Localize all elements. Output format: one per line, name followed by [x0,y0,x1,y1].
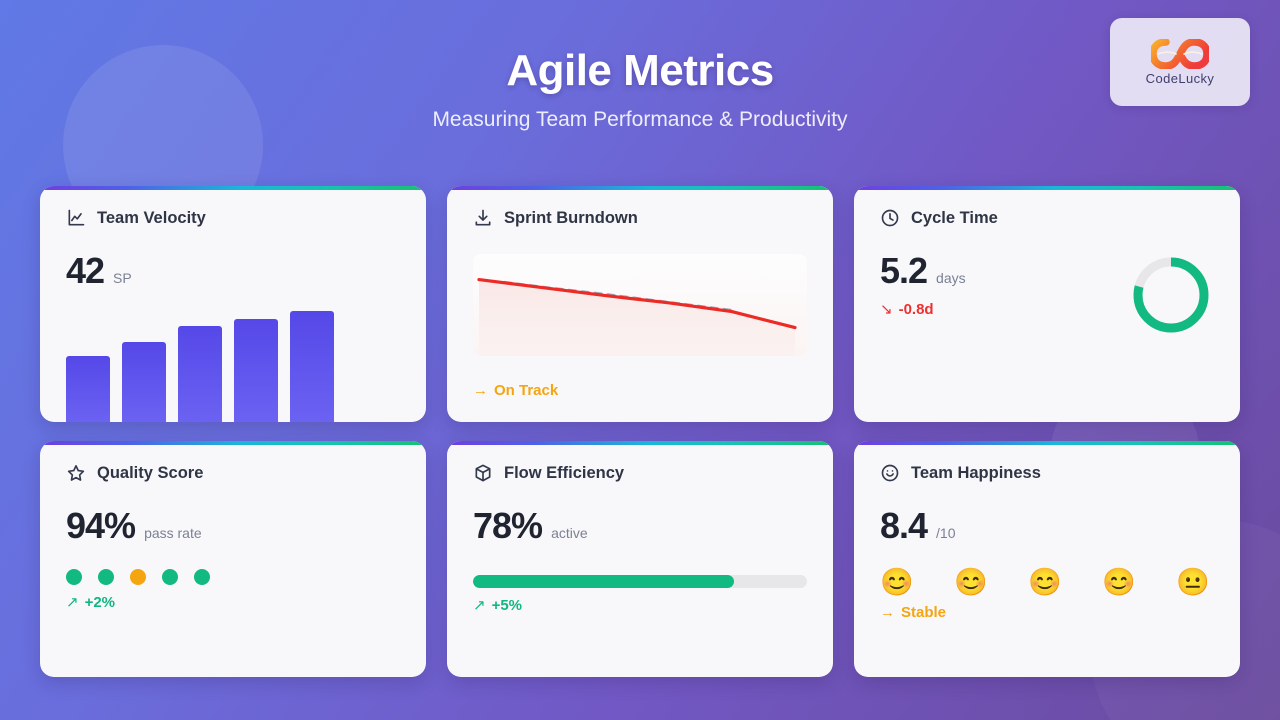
trend-indicator: ↗ +5% [473,596,807,614]
page-subtitle: Measuring Team Performance & Productivit… [0,108,1280,132]
metric-unit: pass rate [144,525,202,541]
star-icon [66,463,86,483]
happiness-status: → Stable [880,604,1214,621]
trend-arrow-icon: ↗ [66,593,79,611]
card-title: Team Happiness [911,464,1041,483]
metric-unit: active [551,525,588,541]
page-title: Agile Metrics [0,46,1280,96]
card-cycle-time[interactable]: Cycle Time 5.2 days ↘ -0.8d [854,186,1240,422]
trend-arrow-icon: ↗ [473,596,486,614]
burndown-chart [473,254,807,356]
cycle-time-donut-chart [1130,254,1212,336]
brand-name: CodeLucky [1146,71,1215,86]
card-header: Team Velocity [66,208,400,228]
card-title: Sprint Burndown [504,209,638,228]
brand-badge[interactable]: CodeLucky [1110,18,1250,106]
metric: 78% active [473,505,807,547]
status-arrow-icon: → [880,604,895,621]
quality-dot-row [66,569,400,585]
card-header: Sprint Burndown [473,208,807,228]
card-title: Team Velocity [97,209,206,228]
line-chart-icon [66,208,86,228]
metric-unit: /10 [936,525,955,541]
velocity-bar-chart [66,297,346,422]
quality-dot [98,569,114,585]
download-tray-icon [473,208,493,228]
smiley-icon [880,463,900,483]
card-flow-efficiency[interactable]: Flow Efficiency 78% active ↗ +5% [447,441,833,677]
velocity-bar [234,319,278,422]
quality-dot [162,569,178,585]
card-team-happiness[interactable]: Team Happiness 8.4 /10 😊😊😊😊😐 → Stable [854,441,1240,677]
happiness-face-icon: 😐 [1176,569,1210,596]
velocity-bar [66,356,110,422]
card-header: Quality Score [66,463,400,483]
metric-value: 94% [66,505,135,547]
progress-fill [473,575,734,588]
trend-label: +2% [85,594,115,611]
trend-label: +5% [492,597,522,614]
velocity-bar [122,342,166,422]
page-header: Agile Metrics Measuring Team Performance… [0,0,1280,132]
metric-unit: days [936,270,966,286]
flow-efficiency-progress-bar [473,575,807,588]
trend-label: -0.8d [899,301,934,318]
quality-dot [194,569,210,585]
metric-unit: SP [113,270,132,286]
infinity-leaf-logo-icon [1151,39,1209,69]
status-arrow-icon: → [473,382,488,399]
card-team-velocity[interactable]: Team Velocity 42 SP [40,186,426,422]
card-title: Cycle Time [911,209,998,228]
trend-indicator: ↗ +2% [66,593,400,611]
happiness-face-icon: 😊 [954,569,988,596]
happiness-face-icon: 😊 [880,569,914,596]
velocity-bar [290,311,334,422]
clock-icon [880,208,900,228]
quality-dot [66,569,82,585]
card-sprint-burndown[interactable]: Sprint Burndown → On Track [447,186,833,422]
metric-value: 8.4 [880,505,927,547]
happiness-face-icon: 😊 [1028,569,1062,596]
happiness-face-row: 😊😊😊😊😐 [880,569,1214,596]
trend-arrow-icon: ↘ [880,300,893,318]
metric-value: 42 [66,250,104,292]
metric-value: 78% [473,505,542,547]
metric-card-grid: Team Velocity 42 SP Sprint Burndown [40,186,1240,677]
dashboard-root: Agile Metrics Measuring Team Performance… [0,0,1280,720]
status-label: On Track [494,382,558,399]
burndown-svg [473,254,807,356]
card-header: Team Happiness [880,463,1214,483]
metric: 42 SP [66,250,400,292]
happiness-face-icon: 😊 [1102,569,1136,596]
card-header: Flow Efficiency [473,463,807,483]
card-title: Quality Score [97,464,203,483]
card-title: Flow Efficiency [504,464,624,483]
card-quality-score[interactable]: Quality Score 94% pass rate ↗ +2% [40,441,426,677]
status-label: Stable [901,604,946,621]
metric: 8.4 /10 [880,505,1214,547]
quality-dot [130,569,146,585]
velocity-bar [178,326,222,422]
card-header: Cycle Time [880,208,1214,228]
metric-value: 5.2 [880,250,927,292]
burndown-status: → On Track [473,382,558,399]
metric: 94% pass rate [66,505,400,547]
cube-icon [473,463,493,483]
